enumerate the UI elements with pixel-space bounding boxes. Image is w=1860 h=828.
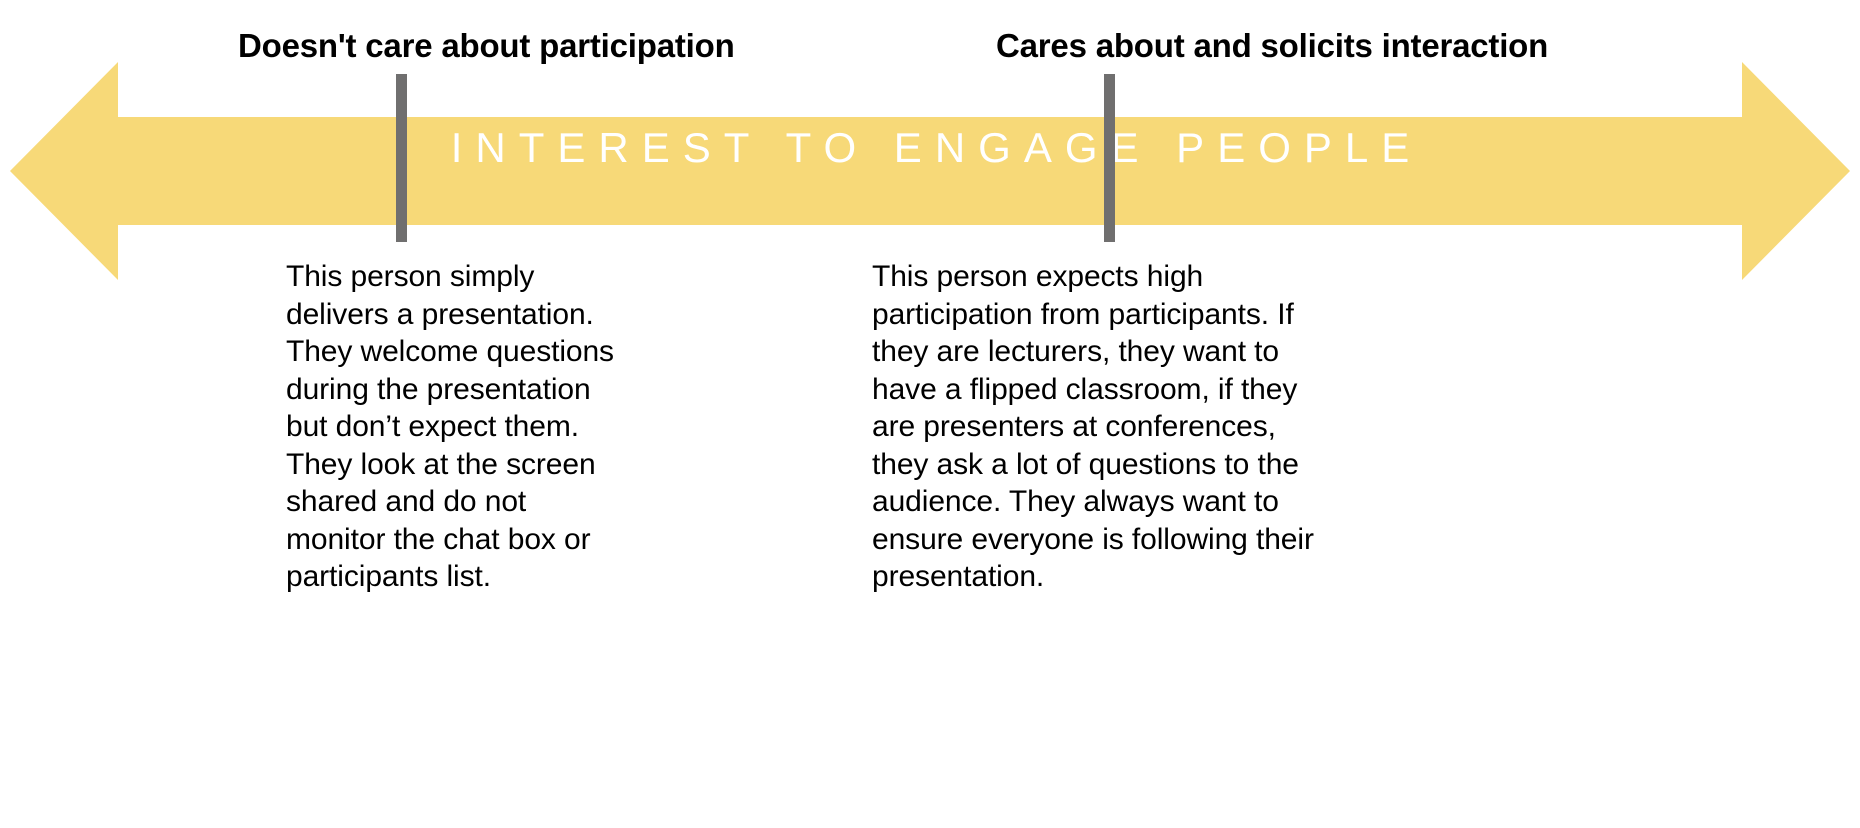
description-right: This person expects high participation f… xyxy=(872,258,1322,596)
spectrum-diagram: Doesn't care about participation Cares a… xyxy=(0,0,1860,828)
arrow-left-icon arrow-right-icon xyxy=(10,62,1850,280)
description-left: This person simply delivers a presentati… xyxy=(286,258,616,596)
marker-tick-left xyxy=(396,74,407,242)
marker-tick-right xyxy=(1104,74,1115,242)
double-headed-arrow xyxy=(0,58,1860,284)
